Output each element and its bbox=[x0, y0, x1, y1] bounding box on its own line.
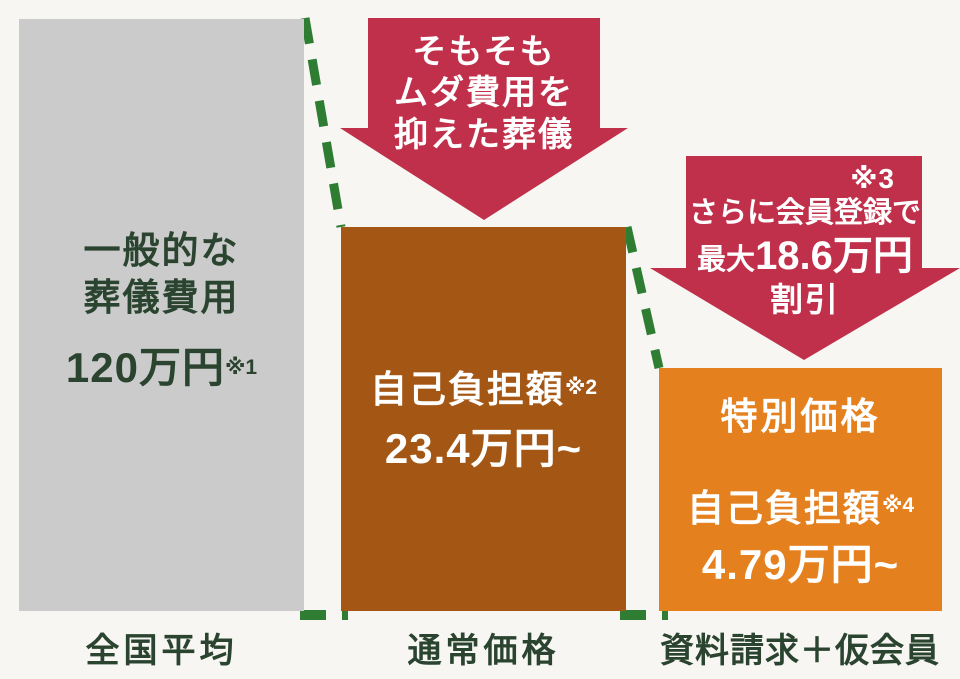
waste-arrow-line2: ムダ費用を bbox=[394, 73, 574, 114]
category-label-national-average: 全国平均 bbox=[19, 623, 304, 672]
regular-price-label-block: 自己負担額※2 bbox=[370, 366, 597, 413]
waste-arrow-line1: そもそも bbox=[394, 32, 574, 73]
special-price-footnote: ※4 bbox=[882, 494, 914, 517]
regular-price-amount: 23.4万円~ bbox=[385, 422, 582, 476]
regular-price-label: 自己負担額 bbox=[370, 369, 565, 410]
national-average-label-block: 一般的な 葬儀費用 bbox=[84, 227, 240, 322]
category-label-special-price: 資料請求＋仮会員 bbox=[650, 623, 950, 672]
bar-regular-price: 自己負担額※2 23.4万円~ bbox=[341, 227, 626, 611]
discount-arrow-line3: 割引 bbox=[689, 280, 921, 320]
waste-arrow-text-block: そもそも ムダ費用を 抑えた葬儀 bbox=[394, 18, 574, 156]
discount-arrow-amount: 18.6万円 bbox=[755, 234, 913, 278]
national-average-amount: 120万円 bbox=[66, 344, 225, 391]
regular-price-footnote: ※2 bbox=[565, 376, 597, 399]
callout-arrow-membership-discount: ※3 さらに会員登録で 最大18.6万円 割引 bbox=[650, 156, 960, 360]
category-label-regular-price: 通常価格 bbox=[341, 623, 626, 672]
dashed-line-national-to-regular bbox=[305, 18, 341, 227]
discount-arrow-footnote: ※3 bbox=[689, 162, 921, 196]
special-price-label: 自己負担額 bbox=[687, 488, 882, 529]
national-average-footnote: ※1 bbox=[225, 356, 257, 379]
funeral-cost-comparison-chart: 一般的な 葬儀費用 120万円※1 自己負担額※2 23.4万円~ 特別価格 自… bbox=[0, 0, 960, 679]
special-price-amount: 4.79万円~ bbox=[702, 538, 899, 592]
discount-arrow-amount-line: 最大18.6万円 bbox=[689, 232, 921, 281]
national-average-amount-block: 120万円※1 bbox=[66, 341, 257, 395]
special-price-title: 特別価格 bbox=[721, 393, 881, 440]
bar-special-price: 特別価格 自己負担額※4 4.79万円~ bbox=[659, 368, 942, 611]
bar-national-average: 一般的な 葬儀費用 120万円※1 bbox=[19, 19, 304, 611]
callout-arrow-waste-reduction: そもそも ムダ費用を 抑えた葬儀 bbox=[340, 18, 628, 220]
waste-arrow-line3: 抑えた葬儀 bbox=[394, 115, 574, 156]
discount-arrow-line1: さらに会員登録で bbox=[689, 196, 921, 231]
national-average-label-line2: 葬儀費用 bbox=[84, 274, 240, 321]
discount-arrow-text-block: ※3 さらに会員登録で 最大18.6万円 割引 bbox=[689, 156, 921, 321]
national-average-label-line1: 一般的な bbox=[84, 227, 240, 274]
special-price-label-block: 自己負担額※4 bbox=[687, 485, 914, 532]
discount-arrow-prefix: 最大 bbox=[697, 244, 755, 276]
